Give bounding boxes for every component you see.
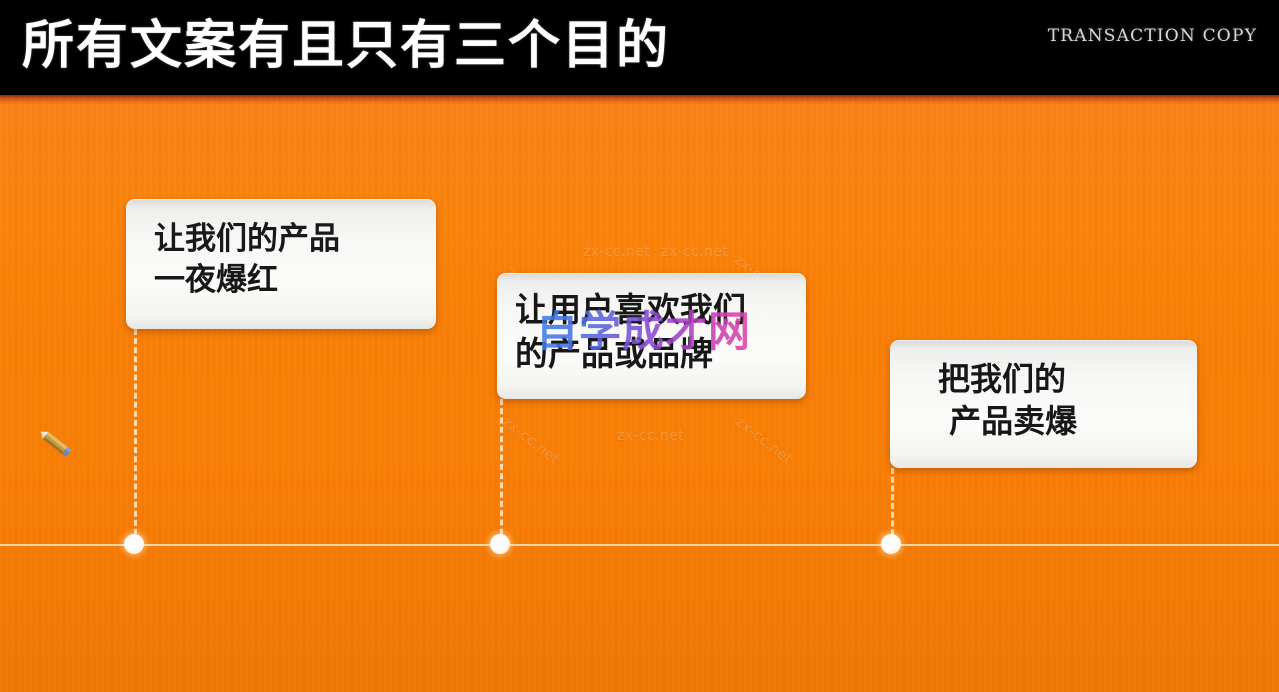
background-watermark-2: zx-cc.net xyxy=(661,244,728,260)
pencil-cursor-icon xyxy=(34,421,78,465)
timeline-dot-2[interactable] xyxy=(490,534,510,554)
goal-card-2-text: 让用户喜欢我们 的产品或品牌 xyxy=(515,288,806,375)
background-watermark-5: zx-cc.net xyxy=(499,414,562,468)
timeline-baseline xyxy=(0,544,1279,546)
timeline-connector-card-1 xyxy=(134,329,137,544)
goal-card-3-text: 把我们的 产品卖爆 xyxy=(938,358,1197,442)
timeline-dot-1[interactable] xyxy=(124,534,144,554)
background-watermark-7: zx-cc.net xyxy=(732,414,795,468)
goal-card-2[interactable]: 让用户喜欢我们 的产品或品牌 xyxy=(497,273,806,399)
presentation-slide: 所有文案有且只有三个目的 TRANSACTION COPY zx-cc.netz… xyxy=(0,0,1279,692)
page-title: 所有文案有且只有三个目的 xyxy=(22,6,670,86)
corner-watermark-label: TRANSACTION COPY xyxy=(1048,26,1257,46)
goal-card-3[interactable]: 把我们的 产品卖爆 xyxy=(890,340,1197,468)
slide-title-bar: 所有文案有且只有三个目的 TRANSACTION COPY xyxy=(0,0,1279,95)
timeline-connector-card-3 xyxy=(891,468,894,544)
timeline-connector-card-2 xyxy=(500,399,503,544)
timeline-dot-3[interactable] xyxy=(881,534,901,554)
goal-card-1-text: 让我们的产品 一夜爆红 xyxy=(154,219,436,301)
background-watermark-6: zx-cc.net xyxy=(617,428,684,444)
slide-body-canvas: zx-cc.netzx-cc.netzx-cc.netzx-cc.netzx-c… xyxy=(0,95,1279,692)
goal-card-1[interactable]: 让我们的产品 一夜爆红 xyxy=(126,199,436,329)
background-watermark-1: zx-cc.net xyxy=(583,244,650,260)
